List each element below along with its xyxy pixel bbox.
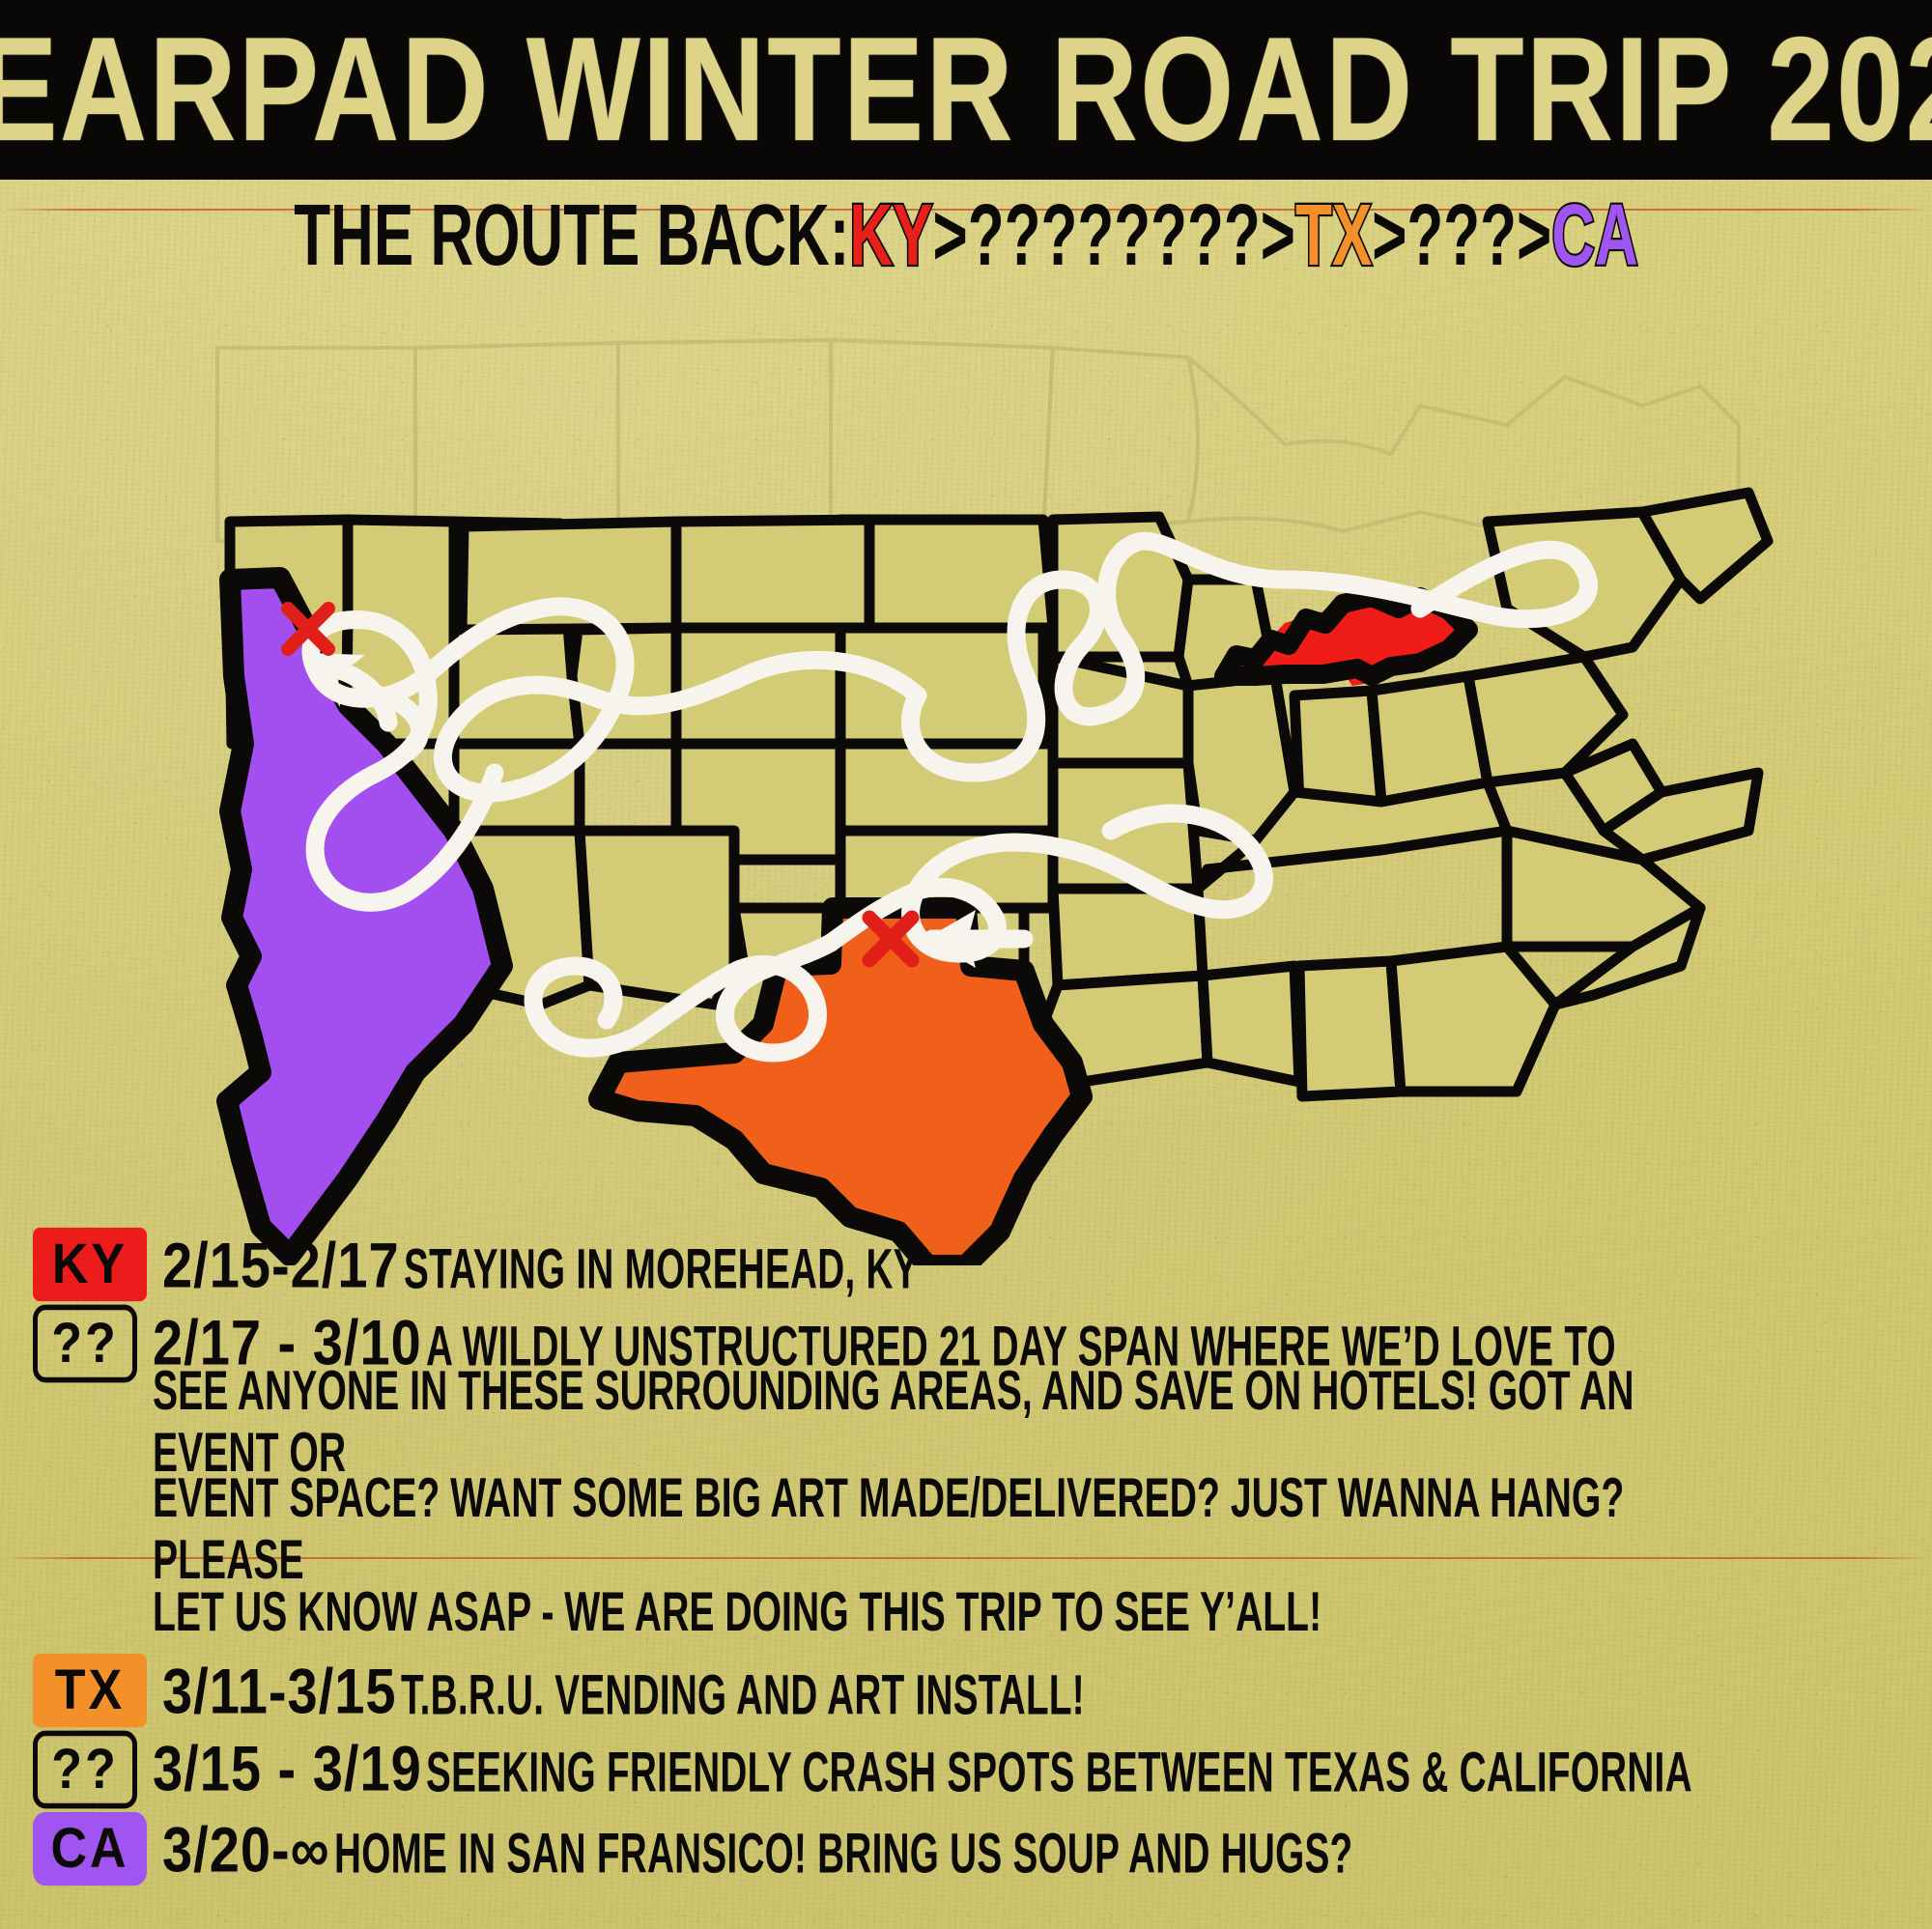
page-title: BEARPAD WINTER ROAD TRIP 2026 — [0, 15, 1932, 163]
legend-row-tx: TX 3/11-3/15 T.B.R.U. VENDING AND ART IN… — [33, 1658, 1899, 1723]
route-unknown-1: ???????? — [968, 187, 1261, 284]
usa-route-map — [0, 290, 1932, 1265]
legend-body-tx: 3/11-3/15 T.B.R.U. VENDING AND ART INSTA… — [162, 1658, 1899, 1722]
legend-row-ca: CA 3/20-∞ HOME IN SAN FRANSICO! BRING US… — [33, 1816, 1899, 1882]
legend-paragraph-line-4: LET US KNOW ASAP - WE ARE DOING THIS TRI… — [153, 1581, 1672, 1644]
legend-dates-unknown-2: 3/15 - 3/19 — [153, 1738, 422, 1799]
legend-paragraph-line-3: EVENT SPACE? WANT SOME BIG ART MADE/DELI… — [153, 1467, 1672, 1592]
ghost-north-outline — [217, 340, 1739, 541]
map-svg — [0, 290, 1932, 1265]
status-badge-unknown-2: ?? — [33, 1731, 137, 1809]
legend-row-unknown-2: ?? 3/15 - 3/19 SEEKING FRIENDLY CRASH SP… — [33, 1735, 1899, 1804]
route-state-tx: TX — [1295, 187, 1372, 284]
route-sep-1: > — [933, 187, 968, 284]
legend-list: KY 2/15-2/17 STAYING IN MOREHEAD, KY ?? … — [0, 1232, 1932, 1893]
legend-desc-ca: HOME IN SAN FRANSICO! BRING US SOUP AND … — [334, 1829, 1519, 1878]
poster-canvas: BEARPAD WINTER ROAD TRIP 2026 THE ROUTE … — [0, 0, 1932, 1929]
route-subtitle-line: THE ROUTE BACK:KY>????????>TX>???>CA — [294, 186, 1638, 286]
route-subtitle: THE ROUTE BACK:KY>????????>TX>???>CA — [0, 180, 1932, 292]
legend-row-ky: KY 2/15-2/17 STAYING IN MOREHEAD, KY — [33, 1232, 1899, 1297]
legend-body-ky: 2/15-2/17 STAYING IN MOREHEAD, KY — [162, 1232, 1899, 1296]
legend-desc-ky: STAYING IN MOREHEAD, KY — [404, 1244, 1002, 1293]
route-state-ca: CA — [1551, 187, 1638, 284]
legend-dates-tx: 3/11-3/15 — [162, 1660, 397, 1721]
poster-header: BEARPAD WINTER ROAD TRIP 2026 — [0, 0, 1932, 180]
status-badge-ca: CA — [33, 1812, 147, 1886]
route-prefix-label: THE ROUTE BACK: — [294, 187, 849, 284]
status-badge-ky: KY — [33, 1228, 147, 1301]
route-sep-2: > — [1261, 187, 1295, 284]
legend-dates-ky: 2/15-2/17 — [162, 1234, 400, 1295]
status-badge-unknown-1: ?? — [33, 1305, 137, 1383]
route-sep-4: > — [1517, 187, 1551, 284]
legend-body-unknown-1: 2/17 - 3/10 A WILDLY UNSTRUCTURED 21 DAY… — [153, 1309, 1899, 1646]
route-unknown-2: ??? — [1406, 187, 1517, 284]
legend-desc-tx: T.B.R.U. VENDING AND ART INSTALL! — [401, 1670, 1196, 1719]
legend-desc-unknown-2: SEEKING FRIENDLY CRASH SPOTS BETWEEN TEX… — [426, 1747, 1898, 1797]
status-badge-tx: TX — [33, 1654, 147, 1727]
legend-row-unknown-1: ?? 2/17 - 3/10 A WILDLY UNSTRUCTURED 21 … — [33, 1309, 1899, 1646]
route-sep-3: > — [1372, 187, 1406, 284]
legend-body-ca: 3/20-∞ HOME IN SAN FRANSICO! BRING US SO… — [162, 1816, 1899, 1881]
legend-paragraph-unknown-1: SEE ANYONE IN THESE SURROUNDING AREAS, A… — [153, 1374, 1899, 1636]
legend-body-unknown-2: 3/15 - 3/19 SEEKING FRIENDLY CRASH SPOTS… — [153, 1735, 1899, 1800]
route-state-ky: KY — [849, 187, 932, 284]
legend-dates-ca: 3/20-∞ — [162, 1819, 330, 1880]
